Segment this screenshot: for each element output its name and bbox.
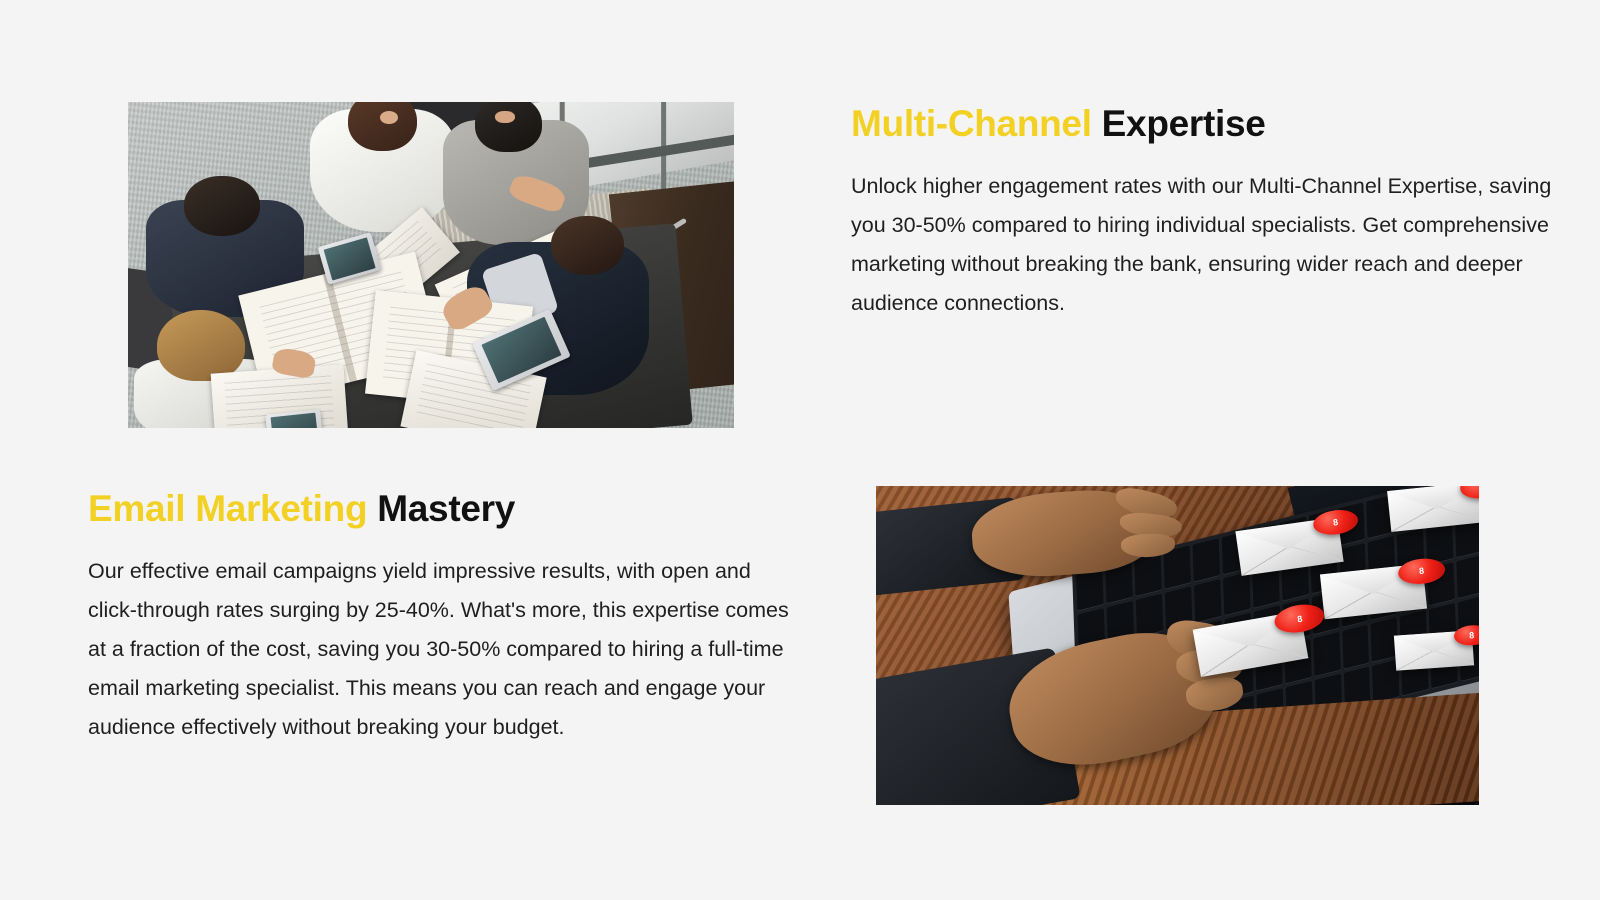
feature-body-email-marketing: Our effective email campaigns yield impr… [88,552,800,747]
face [380,111,398,124]
feature-copy-multi-channel: Multi-ChannelExpertise Unlock higher eng… [851,86,1563,323]
feature-copy-email-marketing: Email MarketingMastery Our effective ema… [88,470,800,747]
head [475,102,542,152]
feature-section-email-marketing-mastery: Email MarketingMastery Our effective ema… [88,470,1519,821]
heading-accent-text: Multi-Channel [851,103,1102,144]
keyboard-key [1223,572,1250,616]
notification-badge: 8 [1459,486,1479,500]
person-woman-white-blouse [310,102,455,232]
feature-body-multi-channel: Unlock higher engagement rates with our … [851,167,1563,323]
keyboard-key [1192,538,1219,582]
feature-heading-multi-channel: Multi-ChannelExpertise [851,102,1563,146]
meeting-photo [128,102,734,428]
keyboard-key [1342,625,1369,669]
keyboard-key [1076,567,1103,611]
tablet-screen [323,237,375,280]
laptop-email-photo: 8 8 8 8 8 [876,486,1479,805]
keyboard-key [1457,555,1479,599]
heading-rest-text: Expertise [1102,103,1266,144]
head [157,310,244,381]
tablet-screen [271,413,319,428]
keyboard-key [1313,632,1340,676]
feature-section-multi-channel-expertise: Multi-ChannelExpertise Unlock higher eng… [88,86,1563,444]
meeting-photo-illustration [128,102,734,428]
heading-rest-text: Mastery [377,488,515,529]
keyboard-key [1134,553,1161,597]
keyboard-key [1136,594,1163,638]
email-envelope-icon: 8 [1393,630,1474,670]
head [551,216,624,274]
feature-heading-email-marketing: Email MarketingMastery [88,487,800,531]
heading-accent-text: Email Marketing [88,488,377,529]
laptop-email-illustration: 8 8 8 8 8 [876,486,1479,805]
keyboard-key [1194,579,1221,623]
head [184,176,260,236]
landing-page-features: Multi-ChannelExpertise Unlock higher eng… [0,0,1600,900]
face [495,111,515,123]
